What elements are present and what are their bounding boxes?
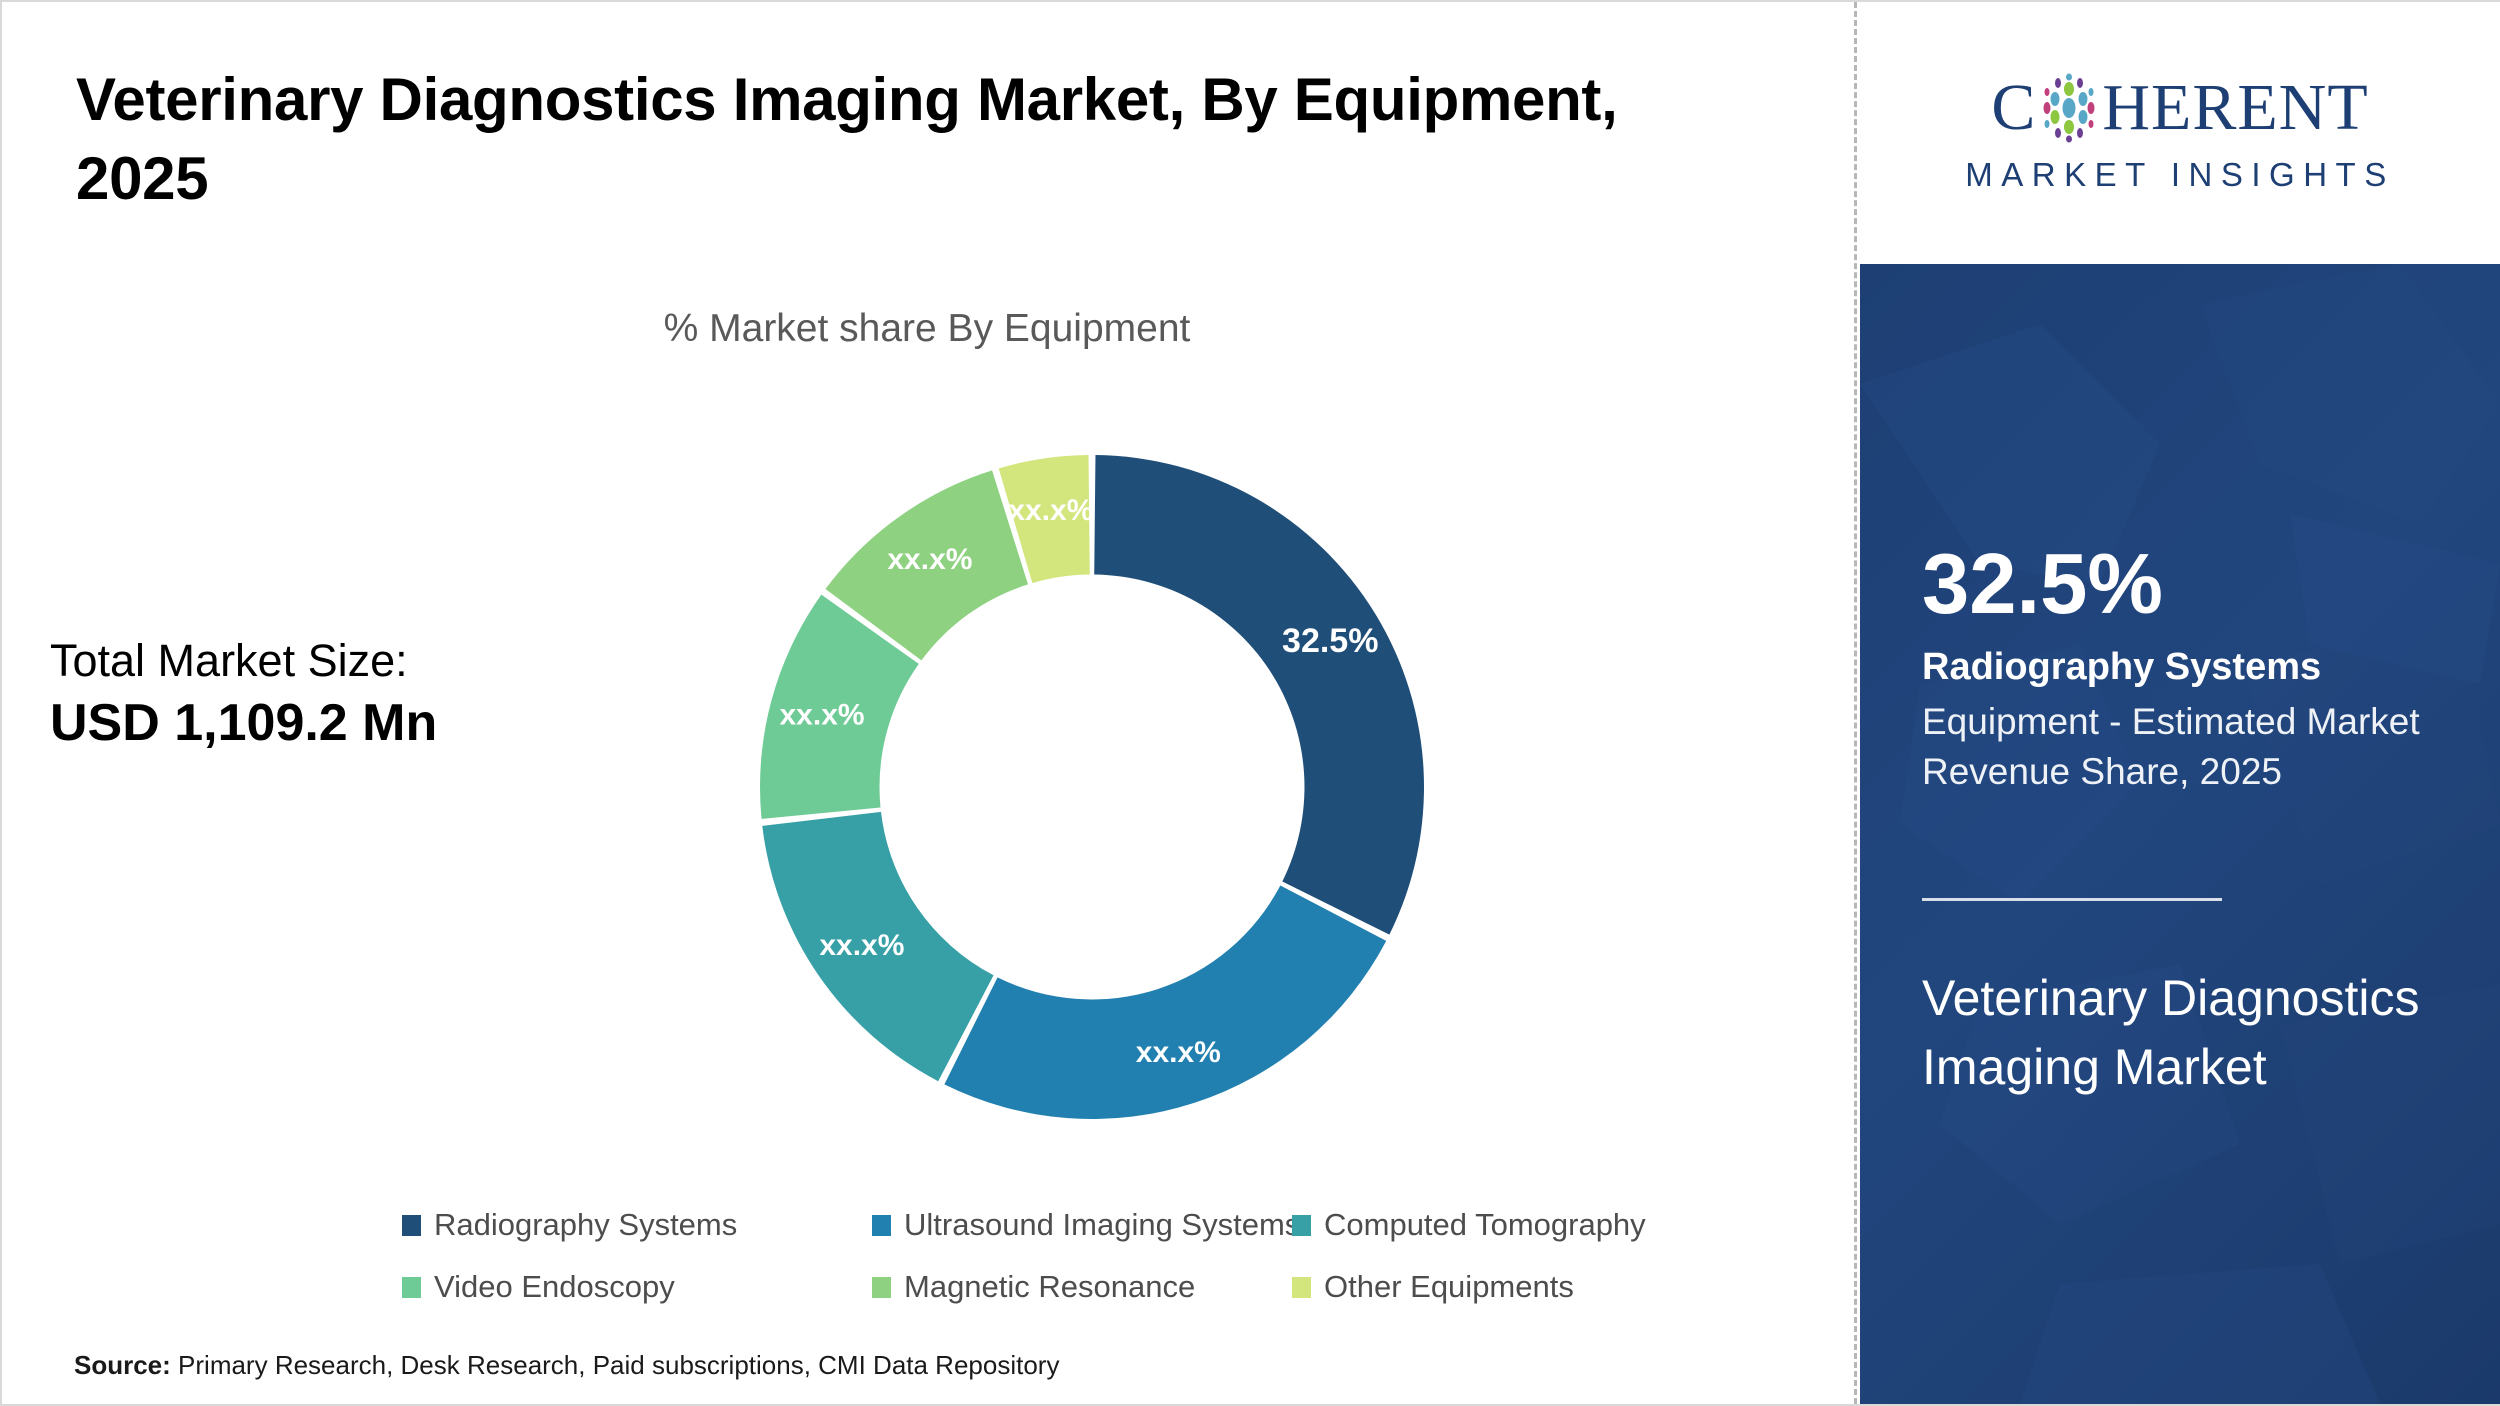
legend-item-video-endoscopy[interactable]: Video Endoscopy [402,1269,872,1305]
legend-label: Ultrasound Imaging Systems [904,1207,1300,1243]
donut-slice-label: 32.5% [1282,622,1378,660]
legend-swatch-icon [402,1277,421,1298]
legend-swatch-icon [1292,1215,1311,1236]
highlight-market-name: Veterinary Diagnostics Imaging Market [1922,964,2442,1102]
logo-wordmark: C [1895,72,2465,144]
legend-item-other-equipments[interactable]: Other Equipments [1292,1269,1712,1305]
legend-label: Video Endoscopy [434,1269,675,1305]
legend-item-magnetic-resonance[interactable]: Magnetic Resonance [872,1269,1292,1305]
highlight-panel: 32.5% Radiography Systems Equipment - Es… [1860,264,2500,1404]
world-map-background [1860,264,2500,1404]
logo-subtitle: MARKET INSIGHTS [1895,156,2465,194]
legend-item-ultrasound-imaging-systems[interactable]: Ultrasound Imaging Systems [872,1207,1292,1243]
legend-swatch-icon [872,1215,891,1236]
highlight-segment-name: Radiography Systems [1922,645,2442,691]
panel-divider [1854,2,1857,1404]
right-panel: C [1860,2,2500,1404]
highlight-description: Equipment - Estimated Market Revenue Sha… [1922,697,2442,797]
highlight-divider-rule [1922,898,2222,901]
left-panel: Veterinary Diagnostics Imaging Market, B… [2,2,1852,1404]
legend-swatch-icon [1292,1277,1311,1298]
chart-legend: Radiography Systems Ultrasound Imaging S… [402,1207,1742,1331]
legend-label: Other Equipments [1324,1269,1574,1305]
chart-subtitle: % Market share By Equipment [2,307,1852,351]
infographic-canvas: Veterinary Diagnostics Imaging Market, B… [0,0,2500,1406]
legend-item-radiography-systems[interactable]: Radiography Systems [402,1207,872,1243]
donut-slice[interactable] [1094,455,1424,935]
donut-slice[interactable] [944,885,1386,1119]
total-market-size-value: USD 1,109.2 Mn [50,690,610,757]
donut-slice-label: xx.x% [819,929,904,962]
legend-label: Magnetic Resonance [904,1269,1195,1305]
legend-row-2: Video Endoscopy Magnetic Resonance Other… [402,1269,1742,1305]
highlight-stat-block: 32.5% Radiography Systems Equipment - Es… [1922,542,2442,796]
donut-chart: 32.5%xx.x%xx.x%xx.x%xx.x%xx.x% [757,452,1427,1122]
source-line: Source: Primary Research, Desk Research,… [74,1350,1059,1381]
source-text: Primary Research, Desk Research, Paid su… [171,1350,1060,1380]
globe-icon [2038,72,2100,144]
donut-slice-label: xx.x% [887,543,972,576]
logo-lockup: C [1895,72,2465,194]
total-market-size-label: Total Market Size: [50,632,610,690]
highlight-percentage: 32.5% [1922,542,2442,627]
page-title: Veterinary Diagnostics Imaging Market, B… [76,60,1636,218]
legend-row-1: Radiography Systems Ultrasound Imaging S… [402,1207,1742,1243]
brand-logo: C [1860,2,2500,264]
legend-swatch-icon [872,1277,891,1298]
donut-slice-label: xx.x% [1136,1036,1221,1069]
logo-letter-c: C [1991,75,2036,141]
total-market-size-block: Total Market Size: USD 1,109.2 Mn [50,632,610,756]
source-prefix: Source: [74,1350,171,1380]
legend-swatch-icon [402,1215,421,1236]
legend-label: Radiography Systems [434,1207,737,1243]
logo-letters-herent: HERENT [2102,75,2368,141]
legend-label: Computed Tomography [1324,1207,1646,1243]
donut-slice-label: xx.x% [1008,494,1093,527]
legend-item-computed-tomography[interactable]: Computed Tomography [1292,1207,1712,1243]
donut-slices [760,455,1424,1119]
donut-slice-label: xx.x% [779,698,864,731]
donut-chart-svg: 32.5%xx.x%xx.x%xx.x%xx.x%xx.x% [757,452,1427,1122]
